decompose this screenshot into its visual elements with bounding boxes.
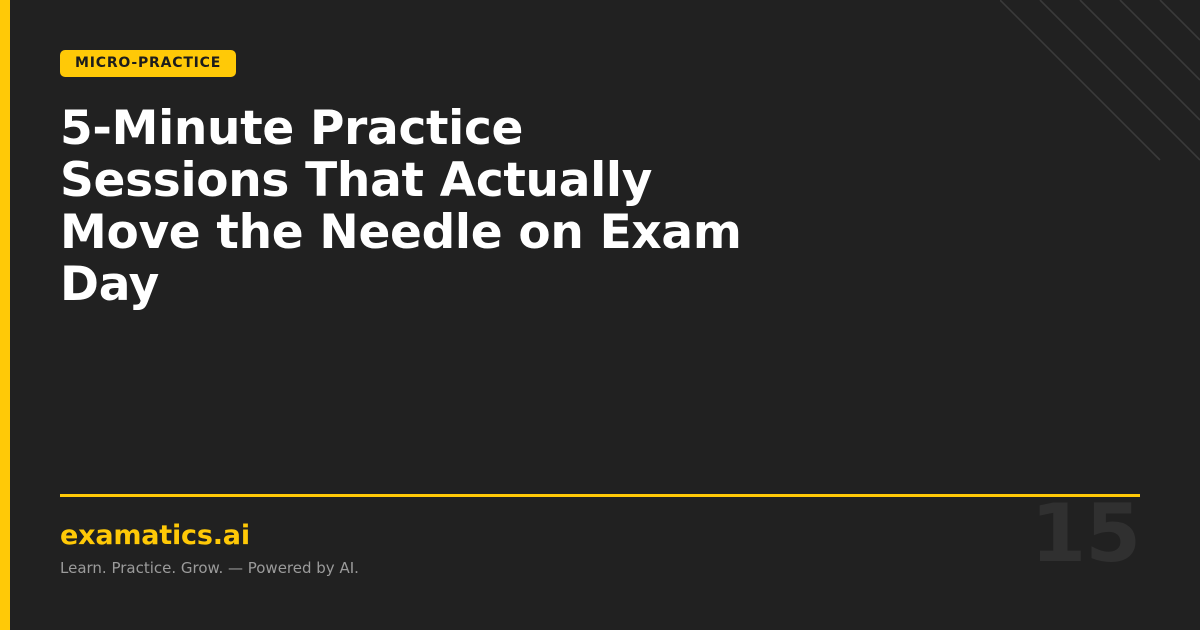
footer-divider-rule <box>60 494 1140 497</box>
category-badge: MICRO-PRACTICE <box>60 50 236 77</box>
slide-headline: 5-Minute Practice Sessions That Actually… <box>60 103 760 311</box>
brand-tagline: Learn. Practice. Grow. — Powered by AI. <box>60 558 359 578</box>
slide-canvas: MICRO-PRACTICE 5-Minute Practice Session… <box>0 0 1200 630</box>
left-accent-stripe <box>0 0 10 630</box>
brand-name: examatics.ai <box>60 520 250 552</box>
page-number: 15 <box>1031 494 1140 574</box>
slide-content: MICRO-PRACTICE 5-Minute Practice Session… <box>60 0 1140 630</box>
